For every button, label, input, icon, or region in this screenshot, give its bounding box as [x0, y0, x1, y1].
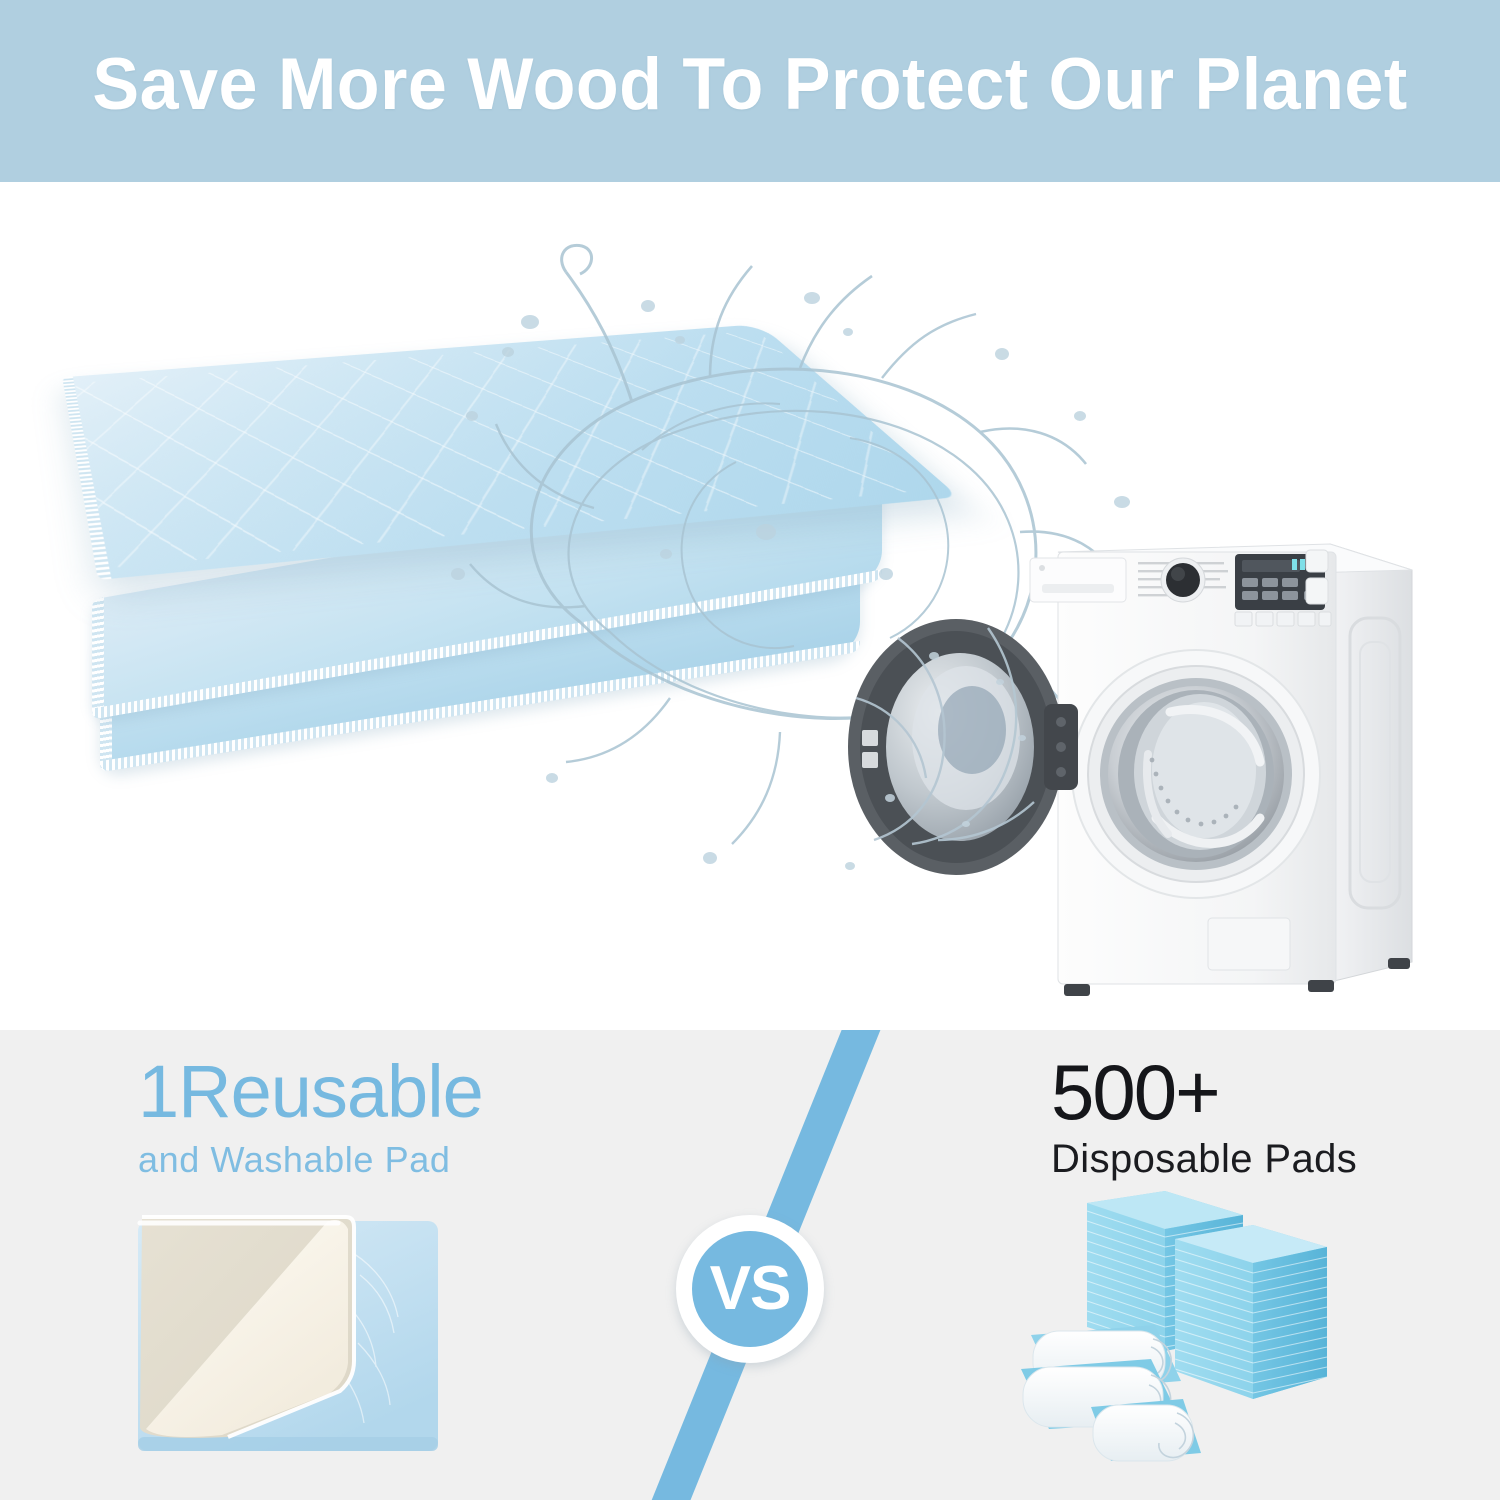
- reusable-pad-product-image: [110, 1205, 450, 1505]
- header-banner: Save More Wood To Protect Our Planet: [0, 0, 1500, 182]
- reusable-headline: 1Reusable: [138, 1055, 483, 1129]
- disposable-headline: 500+: [1051, 1053, 1357, 1131]
- disposable-headline-group: 500+ Disposable Pads: [1051, 1053, 1357, 1182]
- washer-door-open: [838, 612, 1088, 882]
- reusable-subhead: and Washable Pad: [138, 1139, 483, 1181]
- pad-hem-left-mid: [92, 598, 104, 720]
- page-title: Save More Wood To Protect Our Planet: [92, 43, 1407, 126]
- hero-section: [0, 182, 1500, 1030]
- vs-badge: VS: [676, 1215, 824, 1363]
- disposable-subhead: Disposable Pads: [1051, 1137, 1357, 1182]
- vs-label: VS: [710, 1258, 791, 1320]
- disposable-pads-product-image: [1005, 1185, 1405, 1505]
- reusable-headline-group: 1Reusable and Washable Pad: [138, 1055, 483, 1181]
- vs-badge-circle: VS: [692, 1231, 808, 1347]
- folded-reusable-pad-image: [70, 282, 970, 802]
